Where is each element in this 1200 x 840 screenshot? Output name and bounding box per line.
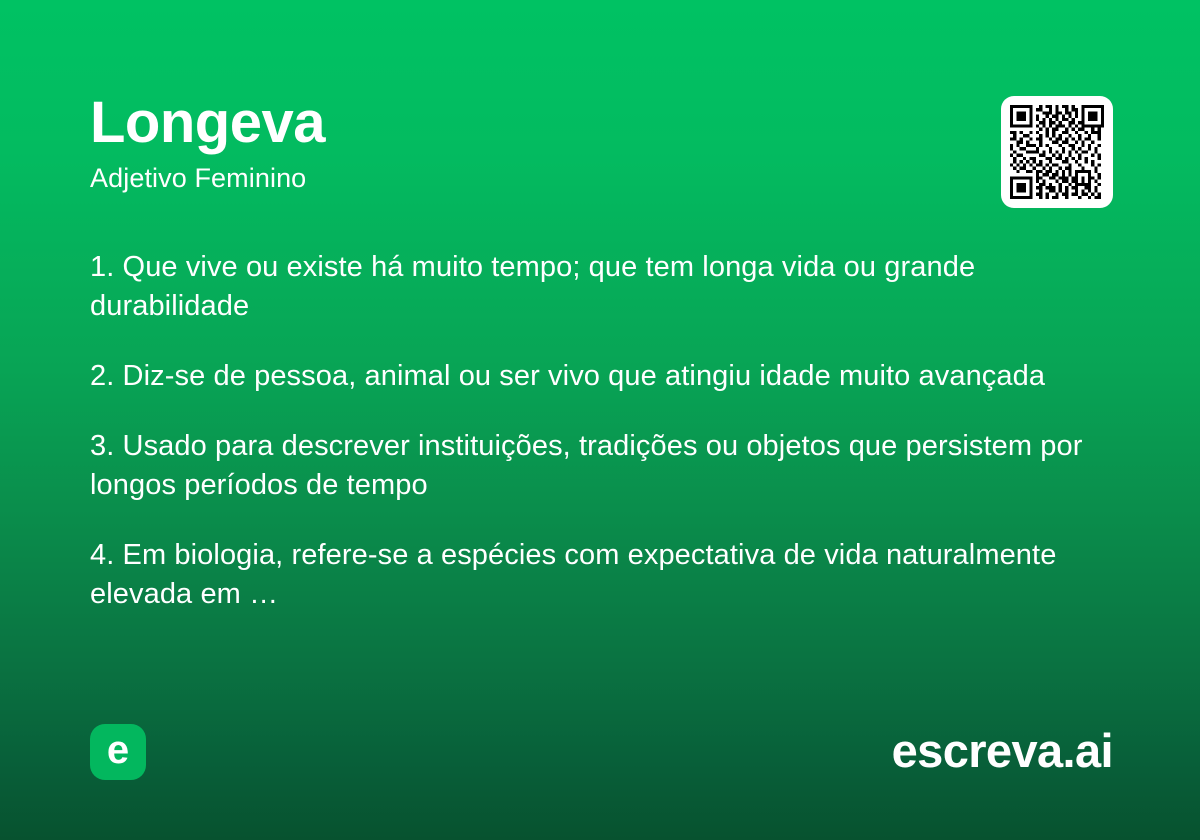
card-header: Longeva Adjetivo Feminino: [90, 92, 970, 194]
definition-item: 2. Diz-se de pessoa, animal ou ser vivo …: [90, 357, 1090, 396]
definition-list: 1. Que vive ou existe há muito tempo; qu…: [90, 248, 1090, 614]
definition-item: 4. Em biologia, refere-se a espécies com…: [90, 536, 1090, 614]
page-title: Longeva: [90, 92, 970, 154]
qr-code-card[interactable]: [1001, 96, 1113, 208]
qr-code-icon: [1010, 105, 1104, 199]
definition-item: 3. Usado para descrever instituições, tr…: [90, 427, 1090, 505]
brand-logo-letter: e: [107, 730, 129, 770]
word-class-label: Adjetivo Feminino: [90, 162, 970, 194]
definition-item: 1. Que vive ou existe há muito tempo; qu…: [90, 248, 1090, 326]
brand-logo-tile: e: [90, 724, 146, 780]
dictionary-card: Longeva Adjetivo Feminino: [0, 0, 1200, 840]
brand-wordmark: escreva.ai: [892, 722, 1113, 780]
